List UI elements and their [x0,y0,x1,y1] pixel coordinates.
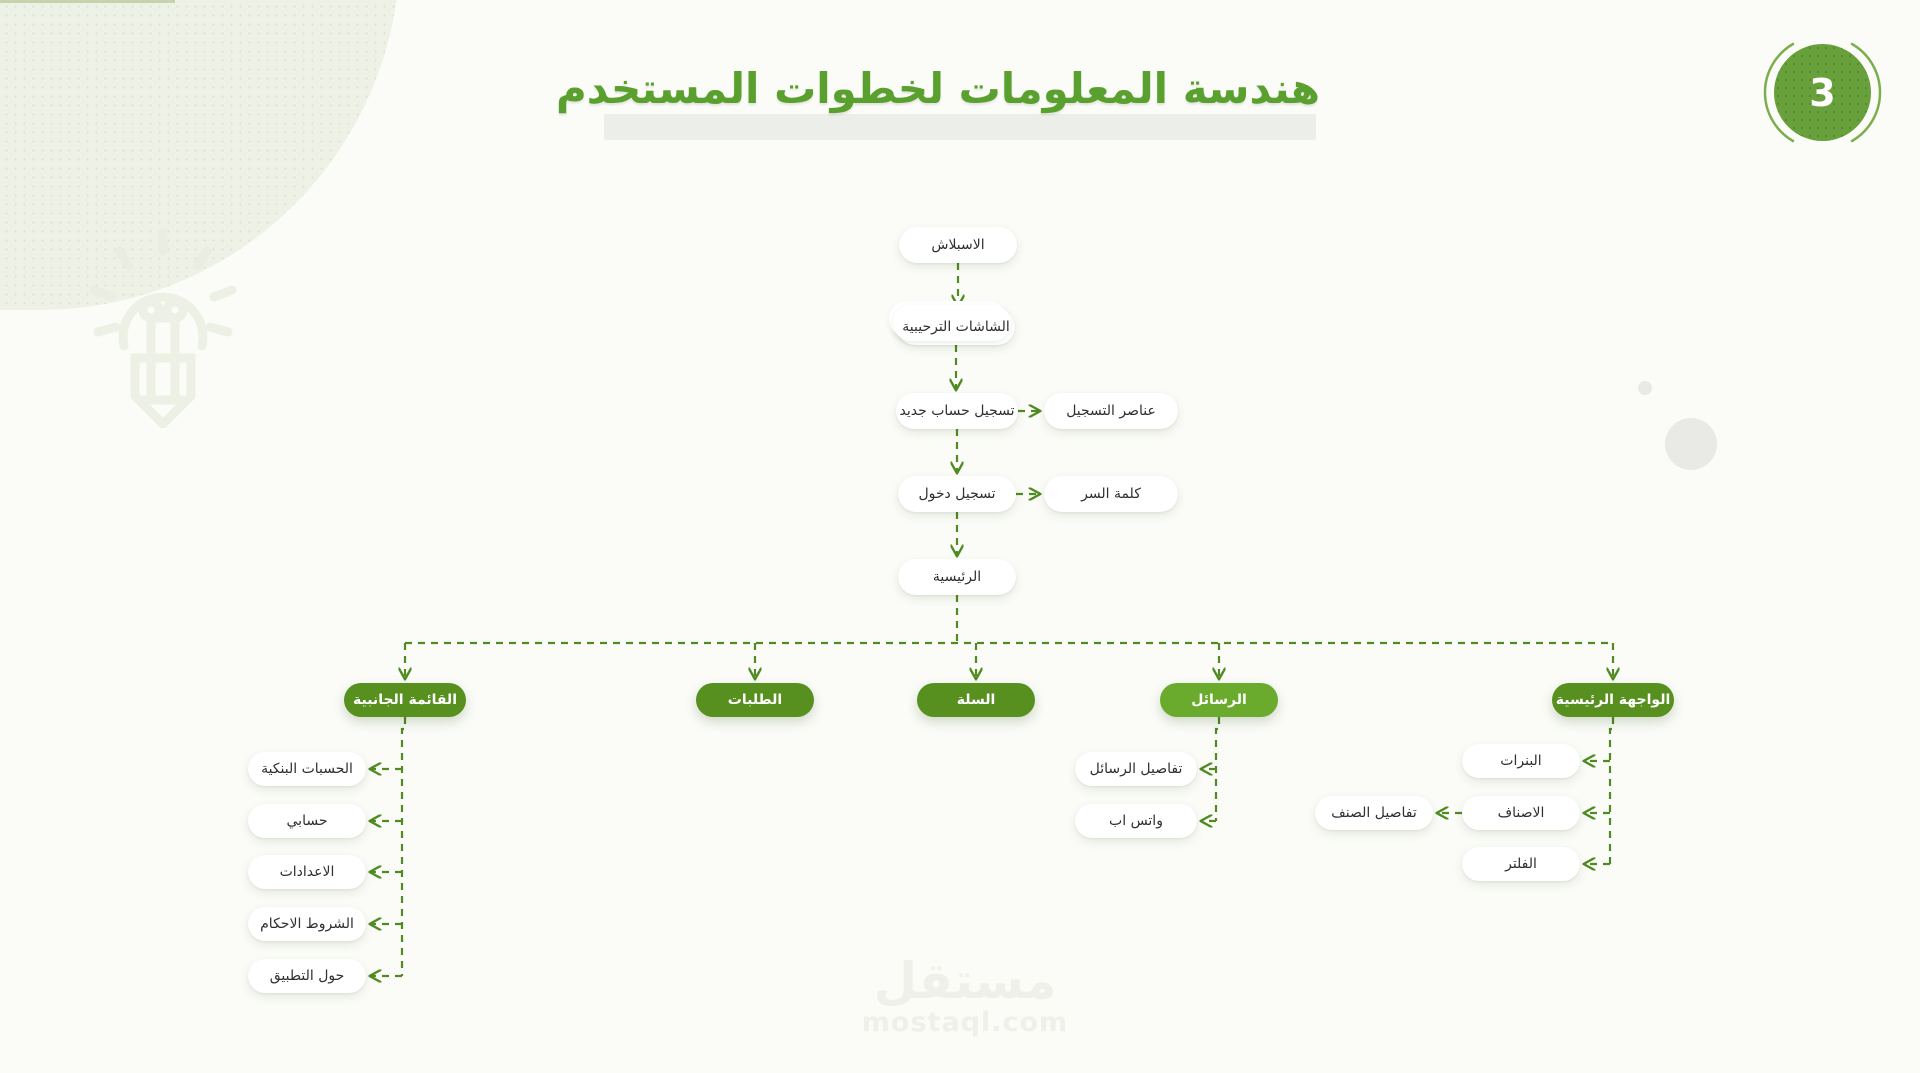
node-cart[interactable]: السلة [917,683,1035,717]
node-label: الواجهة الرئيسية [1556,692,1671,708]
node-label: الفلتر [1505,856,1537,872]
node-categories[interactable]: الاصناف [1462,796,1580,830]
node-label: حول التطبيق [270,968,345,984]
node-label: الشاشات الترحيبية [902,319,1009,335]
node-home[interactable]: الرئيسية [898,559,1016,595]
slide-canvas: 3 هندسة المعلومات لخطوات المستخدم الاسبل… [0,0,1920,1073]
node-about[interactable]: حول التطبيق [248,959,366,993]
node-orders[interactable]: الطلبات [696,683,814,717]
node-signup_fields[interactable]: عناصر التسجيل [1044,393,1178,429]
node-label: الحسبات البنكية [261,761,353,777]
node-bank[interactable]: الحسبات البنكية [248,752,366,786]
node-label: حسابي [287,813,328,829]
node-terms[interactable]: الشروط الاحكام [248,907,366,941]
node-label: تسجيل حساب جديد [900,403,1015,419]
node-label: كلمة السر [1081,486,1141,502]
node-label: البنرات [1500,753,1541,769]
node-account[interactable]: حسابي [248,804,366,838]
node-sidemenu[interactable]: القائمة الجانبية [344,683,466,717]
watermark: مستقل mostaql.com [845,955,1085,1037]
node-label: تسجيل دخول [919,486,996,502]
node-label: واتس اب [1109,813,1163,829]
connector [402,717,405,976]
node-signup[interactable]: تسجيل حساب جديد [896,393,1018,429]
node-onboarding[interactable]: الشاشات الترحيبية [897,309,1015,345]
connector [1610,717,1613,864]
node-label: عناصر التسجيل [1066,403,1156,419]
node-label: الرسائل [1191,692,1247,708]
node-label: الطلبات [728,692,782,708]
node-password[interactable]: كلمة السر [1044,476,1178,512]
node-label: تفاصيل الصنف [1331,805,1416,821]
node-splash[interactable]: الاسبلاش [899,227,1017,263]
node-login[interactable]: تسجيل دخول [898,476,1016,512]
node-label: الشروط الاحكام [260,916,354,932]
connector [1216,717,1219,821]
node-filter[interactable]: الفلتر [1462,847,1580,881]
watermark-latin: mostaql.com [845,1008,1085,1038]
node-main_ui[interactable]: الواجهة الرئيسية [1552,683,1674,717]
node-label: تفاصيل الرسائل [1090,761,1183,777]
node-label: الاعدادات [280,864,335,880]
node-label: الاسبلاش [931,237,984,253]
node-whatsapp[interactable]: واتس اب [1075,804,1197,838]
node-label: القائمة الجانبية [353,692,457,708]
node-msg_details[interactable]: تفاصيل الرسائل [1075,752,1197,786]
node-messages[interactable]: الرسائل [1160,683,1278,717]
diagram-canvas: الاسبلاشالشاشات الترحيبيةتسجيل حساب جديد… [0,0,1920,1073]
node-label: الرئيسية [933,569,981,585]
node-banners[interactable]: البنرات [1462,744,1580,778]
node-cat_details[interactable]: تفاصيل الصنف [1315,796,1433,830]
node-label: الاصناف [1498,805,1545,821]
node-label: السلة [957,692,996,708]
watermark-arabic: مستقل [845,955,1085,1008]
node-settings[interactable]: الاعدادات [248,855,366,889]
